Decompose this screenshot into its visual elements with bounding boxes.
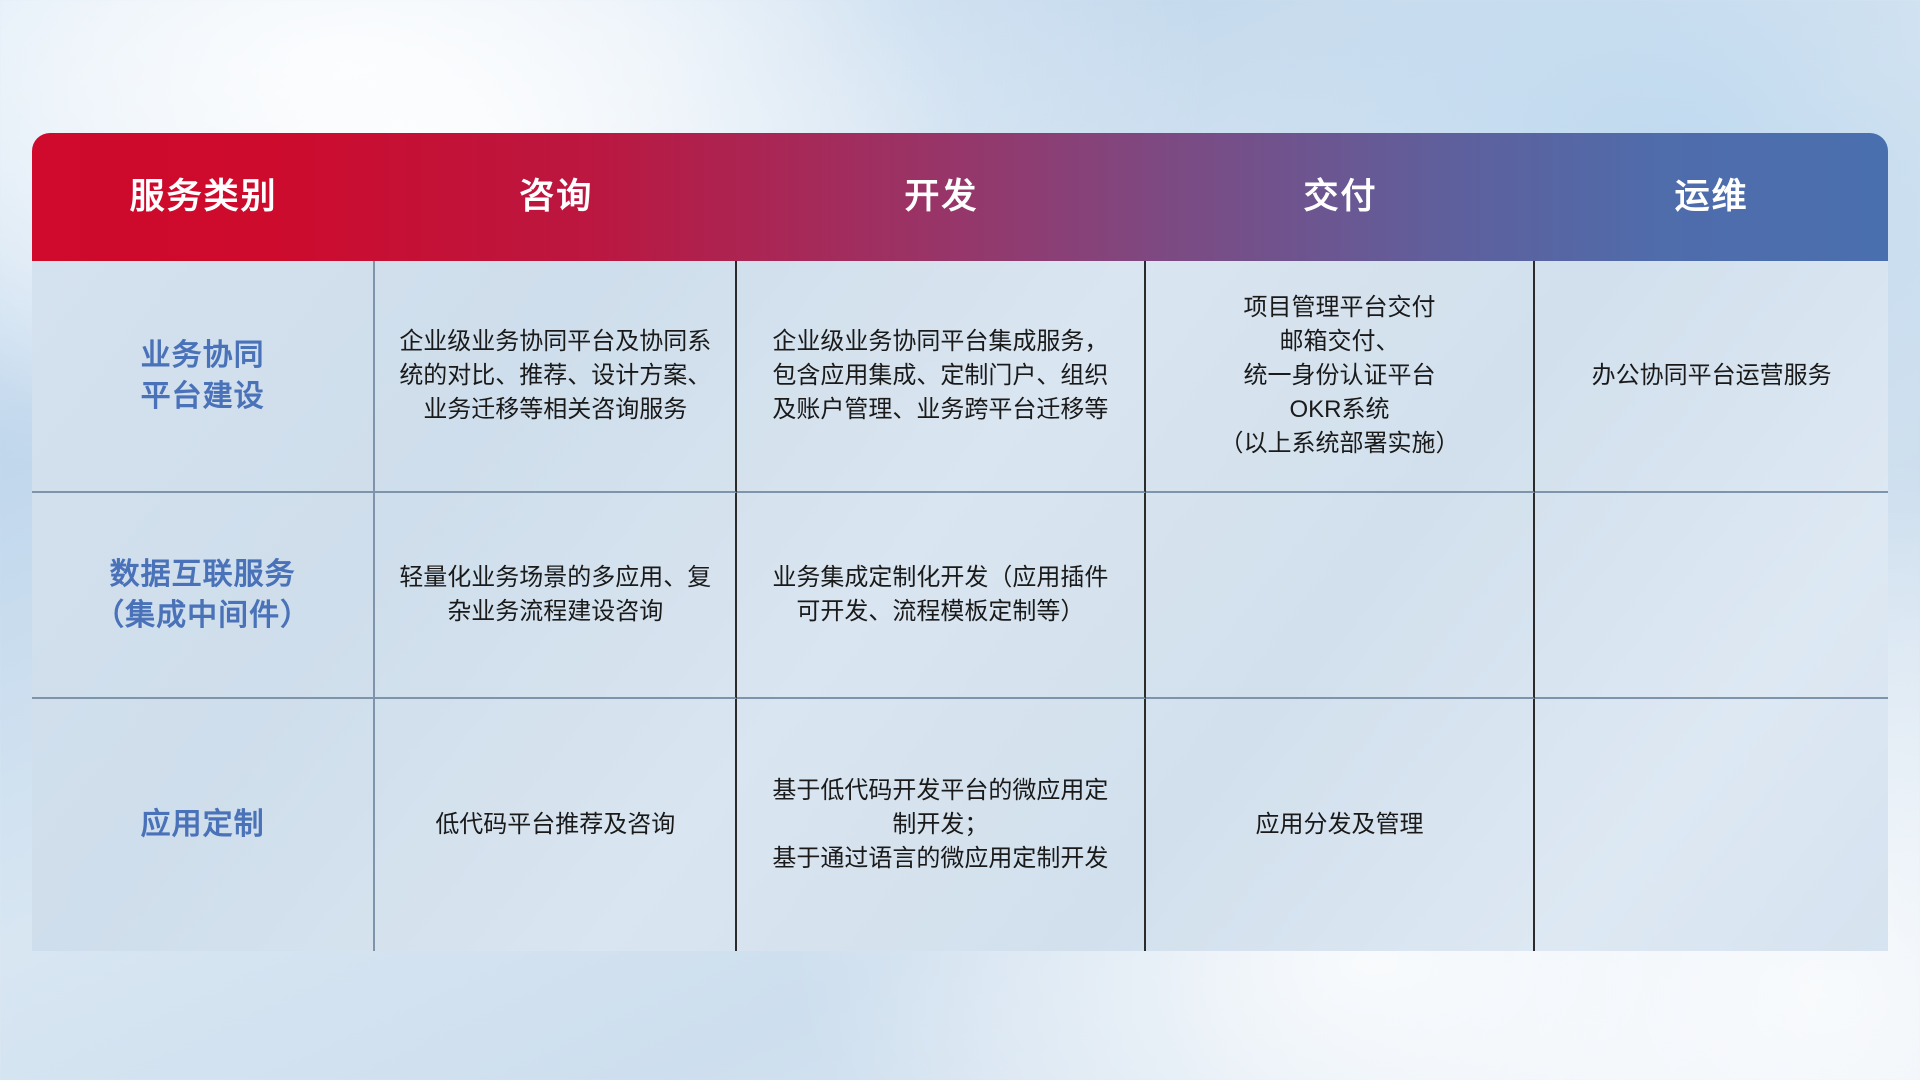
- column-header-development-label: 开发: [904, 177, 978, 216]
- cell-consulting-row2: 轻量化业务场景的多应用、复杂业务流程建设咨询: [375, 493, 737, 699]
- table-header: 服务类别 咨询 开发 交付 运维: [32, 133, 1888, 261]
- table-header-row: 服务类别 咨询 开发 交付 运维: [32, 133, 1888, 261]
- column-header-delivery-label: 交付: [1303, 177, 1377, 216]
- cell-text: 业务协同平台建设: [46, 335, 359, 418]
- cell-category-row3: 应用定制: [32, 699, 375, 951]
- cell-text: 企业级业务协同平台集成服务，包含应用集成、定制门户、组织及账户管理、业务跨平台迁…: [751, 325, 1129, 427]
- cell-delivery-row2: [1146, 493, 1536, 699]
- column-header-development[interactable]: 开发: [737, 133, 1145, 261]
- cell-development-row1: 企业级业务协同平台集成服务，包含应用集成、定制门户、组织及账户管理、业务跨平台迁…: [737, 261, 1145, 493]
- column-header-category-label: 服务类别: [130, 177, 278, 216]
- column-header-consulting[interactable]: 咨询: [375, 133, 737, 261]
- service-matrix-sheet: 服务类别 咨询 开发 交付 运维 业务协同平台建设 企业级业务协同平台及协同系: [32, 133, 1888, 951]
- cell-text: 企业级业务协同平台及协同系统的对比、推荐、设计方案、业务迁移等相关咨询服务: [389, 325, 721, 427]
- table-body: 业务协同平台建设 企业级业务协同平台及协同系统的对比、推荐、设计方案、业务迁移等…: [32, 261, 1888, 951]
- cell-text: 数据互联服务（集成中间件）: [46, 554, 359, 637]
- column-header-operations[interactable]: 运维: [1535, 133, 1888, 261]
- cell-consulting-row3: 低代码平台推荐及咨询: [375, 699, 737, 951]
- column-header-consulting-label: 咨询: [519, 177, 593, 216]
- cell-development-row3: 基于低代码开发平台的微应用定制开发；基于通过语言的微应用定制开发: [737, 699, 1145, 951]
- column-header-operations-label: 运维: [1675, 177, 1749, 216]
- service-category-table: 服务类别 咨询 开发 交付 运维 业务协同平台建设 企业级业务协同平台及协同系: [32, 133, 1888, 951]
- table-row: 业务协同平台建设 企业级业务协同平台及协同系统的对比、推荐、设计方案、业务迁移等…: [32, 261, 1888, 493]
- cell-text: 项目管理平台交付邮箱交付、统一身份认证平台OKR系统（以上系统部署实施）: [1160, 291, 1520, 461]
- cell-operations-row2: [1535, 493, 1888, 699]
- cell-category-row1: 业务协同平台建设: [32, 261, 375, 493]
- cell-text: 轻量化业务场景的多应用、复杂业务流程建设咨询: [389, 561, 721, 629]
- cell-operations-row3: [1535, 699, 1888, 951]
- column-header-delivery[interactable]: 交付: [1146, 133, 1536, 261]
- cell-development-row2: 业务集成定制化开发（应用插件可开发、流程模板定制等）: [737, 493, 1145, 699]
- cell-delivery-row3: 应用分发及管理: [1146, 699, 1536, 951]
- cell-text: 办公协同平台运营服务: [1549, 359, 1874, 393]
- cell-text: 业务集成定制化开发（应用插件可开发、流程模板定制等）: [751, 561, 1129, 629]
- cell-text: 低代码平台推荐及咨询: [389, 808, 721, 842]
- table-row: 应用定制 低代码平台推荐及咨询 基于低代码开发平台的微应用定制开发；基于通过语言…: [32, 699, 1888, 951]
- cell-text: 应用定制: [46, 804, 359, 845]
- cell-text: 基于低代码开发平台的微应用定制开发；基于通过语言的微应用定制开发: [751, 774, 1129, 876]
- cell-consulting-row1: 企业级业务协同平台及协同系统的对比、推荐、设计方案、业务迁移等相关咨询服务: [375, 261, 737, 493]
- column-header-category[interactable]: 服务类别: [32, 133, 375, 261]
- cell-category-row2: 数据互联服务（集成中间件）: [32, 493, 375, 699]
- cell-operations-row1: 办公协同平台运营服务: [1535, 261, 1888, 493]
- cell-delivery-row1: 项目管理平台交付邮箱交付、统一身份认证平台OKR系统（以上系统部署实施）: [1146, 261, 1536, 493]
- table-row: 数据互联服务（集成中间件） 轻量化业务场景的多应用、复杂业务流程建设咨询 业务集…: [32, 493, 1888, 699]
- cell-text: 应用分发及管理: [1160, 808, 1520, 842]
